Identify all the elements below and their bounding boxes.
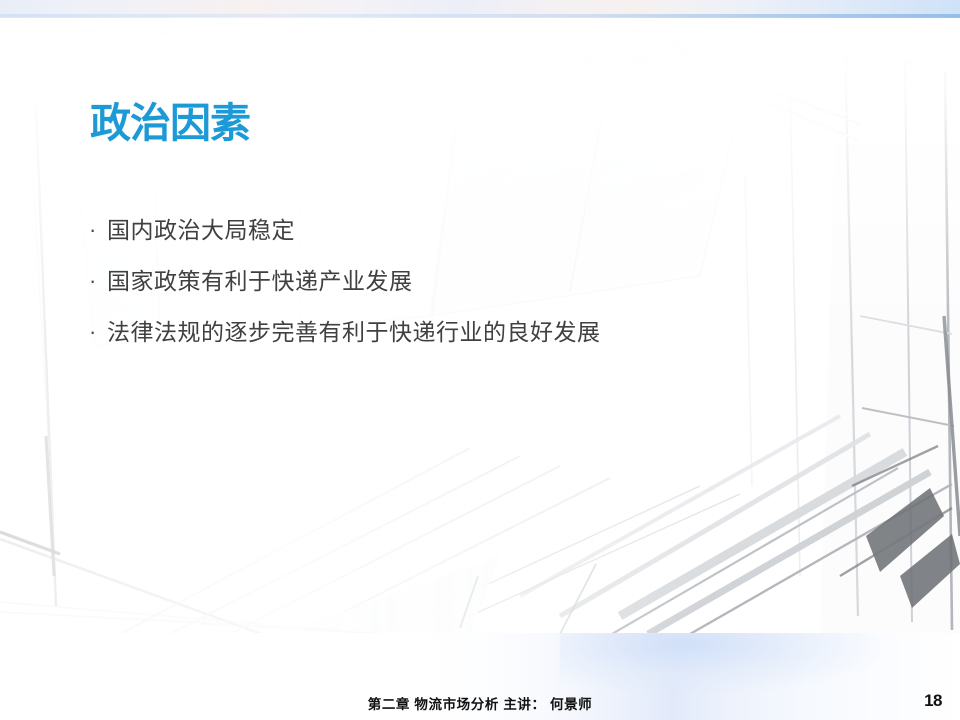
- page-number: 18: [924, 691, 942, 711]
- bullet-dot-icon: ·: [88, 314, 107, 350]
- bullet-list: · 国内政治大局稳定 · 国家政策有利于快递产业发展 · 法律法规的逐步完善有利…: [88, 212, 888, 365]
- bullet-text: 国内政治大局稳定: [107, 212, 295, 248]
- list-item: · 国内政治大局稳定: [88, 212, 888, 263]
- bullet-dot-icon: ·: [88, 263, 107, 299]
- list-item: · 法律法规的逐步完善有利于快递行业的良好发展: [88, 314, 888, 365]
- top-band-edge: [0, 14, 960, 18]
- list-item: · 国家政策有利于快递产业发展: [88, 263, 888, 314]
- bottom-band-glow: [560, 633, 880, 693]
- slide-footer: 第二章 物流市场分析 主讲： 何景师: [0, 693, 960, 713]
- bullet-text: 法律法规的逐步完善有利于快递行业的良好发展: [107, 314, 601, 350]
- bullet-text: 国家政策有利于快递产业发展: [107, 263, 413, 299]
- bullet-dot-icon: ·: [88, 212, 107, 248]
- slide-title: 政治因素: [90, 100, 250, 147]
- presentation-slide: 政治因素 · 国内政治大局稳定 · 国家政策有利于快递产业发展 · 法律法规的逐…: [0, 0, 960, 720]
